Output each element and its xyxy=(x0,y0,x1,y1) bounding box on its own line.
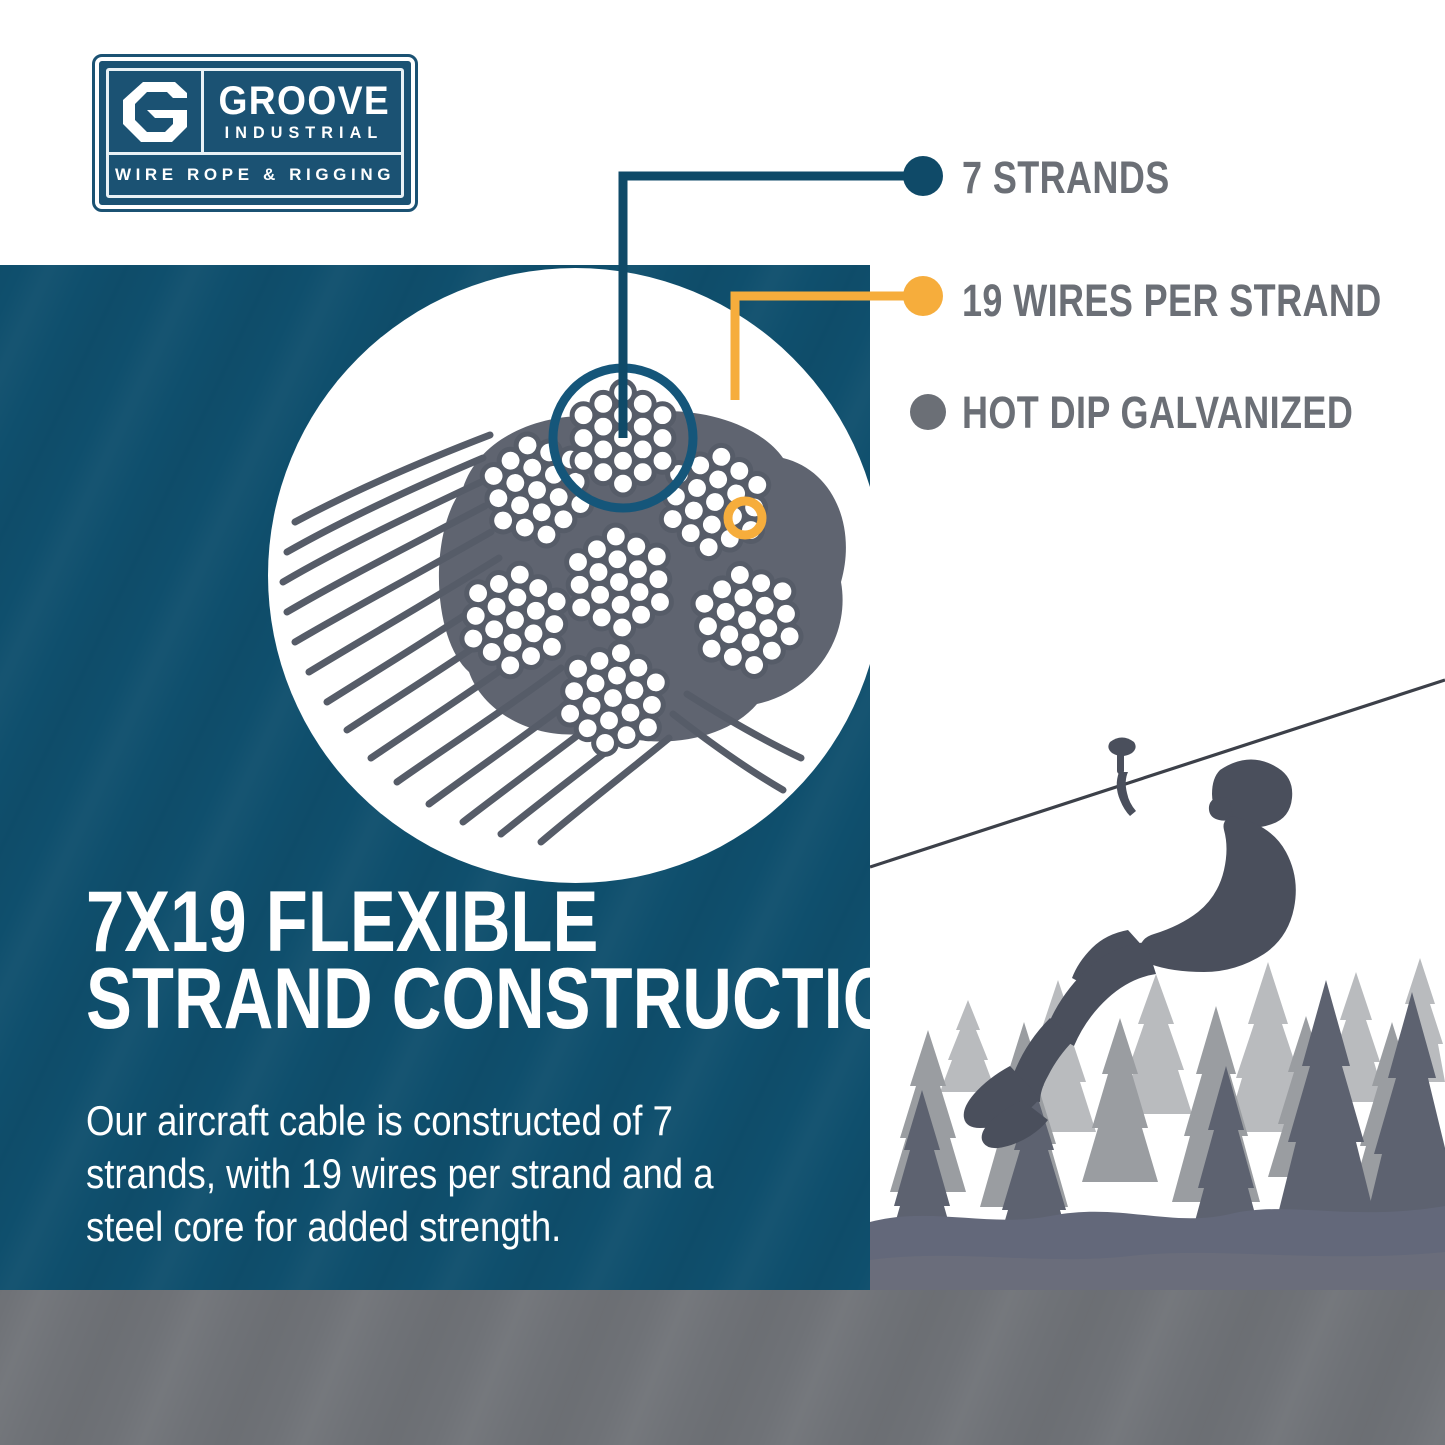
callout-dot-wires xyxy=(903,276,943,316)
headline-line-1: 7X19 FLEXIBLE xyxy=(86,884,694,961)
zipline-scene xyxy=(870,662,1445,1290)
logo-tagline-row: WIRE ROPE & RIGGING xyxy=(109,155,401,195)
bottom-gray-band xyxy=(0,1290,1445,1445)
infographic-page: GROOVE INDUSTRIAL WIRE ROPE & RIGGING xyxy=(0,0,1445,1445)
headline-line-2: STRAND CONSTRUCTION xyxy=(86,961,694,1038)
band-wave-texture xyxy=(0,1290,1445,1445)
wire-rope-cross-section-illustration xyxy=(285,290,865,850)
brand-logo[interactable]: GROOVE INDUSTRIAL WIRE ROPE & RIGGING xyxy=(95,57,415,209)
brand-name: GROOVE xyxy=(218,83,390,120)
brand-subname: INDUSTRIAL xyxy=(225,125,384,142)
logo-wordmark: GROOVE INDUSTRIAL xyxy=(204,71,403,152)
brand-tagline: WIRE ROPE & RIGGING xyxy=(115,165,395,185)
body-paragraph: Our aircraft cable is constructed of 7 s… xyxy=(86,1095,773,1254)
groove-g-monogram-icon xyxy=(109,71,204,152)
callout-dot-strands xyxy=(903,156,943,196)
callout-label-wires: 19 WIRES PER STRAND xyxy=(962,278,1382,323)
callout-label-strands: 7 STRANDS xyxy=(962,155,1170,200)
page-title: 7X19 FLEXIBLE STRAND CONSTRUCTION xyxy=(86,884,694,1039)
logo-upper-row: GROOVE INDUSTRIAL xyxy=(109,71,401,155)
logo-frame: GROOVE INDUSTRIAL WIRE ROPE & RIGGING xyxy=(106,68,404,198)
callout-dot-galvanized xyxy=(910,394,946,430)
callout-label-galvanized: HOT DIP GALVANIZED xyxy=(962,390,1353,435)
